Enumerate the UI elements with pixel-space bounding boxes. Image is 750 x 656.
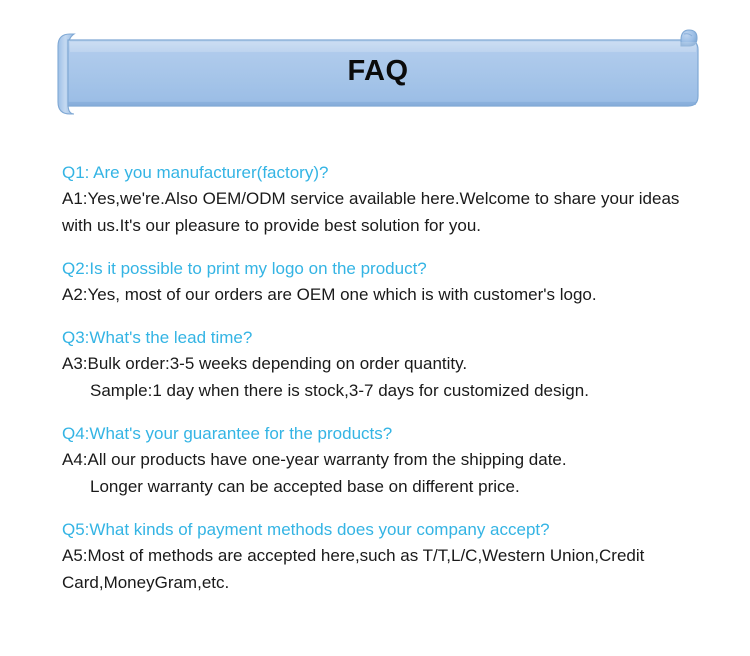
faq-item: Q4:What's your guarantee for the product… [0, 421, 750, 500]
faq-answer-line: Sample:1 day when there is stock,3-7 day… [62, 377, 702, 404]
faq-answer-line: Longer warranty can be accepted base on … [62, 473, 702, 500]
faq-page: FAQ Q1: Are you manufacturer(factory)? A… [0, 0, 750, 656]
faq-answer-line: A2:Yes, most of our orders are OEM one w… [62, 281, 702, 308]
faq-item: Q2:Is it possible to print my logo on th… [0, 256, 750, 308]
faq-answer: A3:Bulk order:3-5 weeks depending on ord… [0, 350, 750, 404]
faq-banner: FAQ [0, 0, 750, 130]
faq-question: Q4:What's your guarantee for the product… [0, 421, 750, 446]
faq-answer-line: A4:All our products have one-year warran… [62, 446, 702, 473]
faq-item: Q1: Are you manufacturer(factory)? A1:Ye… [0, 160, 750, 239]
faq-answer: A2:Yes, most of our orders are OEM one w… [0, 281, 750, 308]
faq-answer-line: A1:Yes,we're.Also OEM/ODM service availa… [62, 185, 702, 239]
faq-item: Q3:What's the lead time? A3:Bulk order:3… [0, 325, 750, 404]
faq-list: Q1: Are you manufacturer(factory)? A1:Ye… [0, 160, 750, 613]
faq-item: Q5:What kinds of payment methods does yo… [0, 517, 750, 596]
faq-answer: A5:Most of methods are accepted here,suc… [0, 542, 750, 596]
faq-answer-line: A5:Most of methods are accepted here,suc… [62, 542, 702, 596]
faq-answer-line: A3:Bulk order:3-5 weeks depending on ord… [62, 350, 702, 377]
faq-question: Q5:What kinds of payment methods does yo… [0, 517, 750, 542]
page-title: FAQ [58, 54, 698, 88]
faq-question: Q2:Is it possible to print my logo on th… [0, 256, 750, 281]
faq-answer: A1:Yes,we're.Also OEM/ODM service availa… [0, 185, 750, 239]
faq-answer: A4:All our products have one-year warran… [0, 446, 750, 500]
faq-question: Q1: Are you manufacturer(factory)? [0, 160, 750, 185]
faq-question: Q3:What's the lead time? [0, 325, 750, 350]
